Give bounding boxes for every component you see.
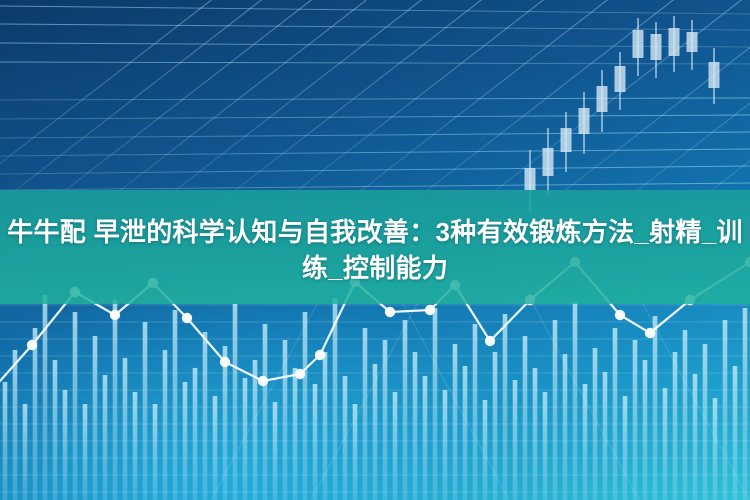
page-title: 牛牛配 早泄的科学认知与自我改善：3种有效锻炼方法_射精_训练_控制能力 bbox=[6, 214, 744, 286]
article-banner: 牛牛配 早泄的科学认知与自我改善：3种有效锻炼方法_射精_训练_控制能力 bbox=[0, 0, 750, 500]
title-container: 牛牛配 早泄的科学认知与自我改善：3种有效锻炼方法_射精_训练_控制能力 bbox=[0, 0, 750, 500]
